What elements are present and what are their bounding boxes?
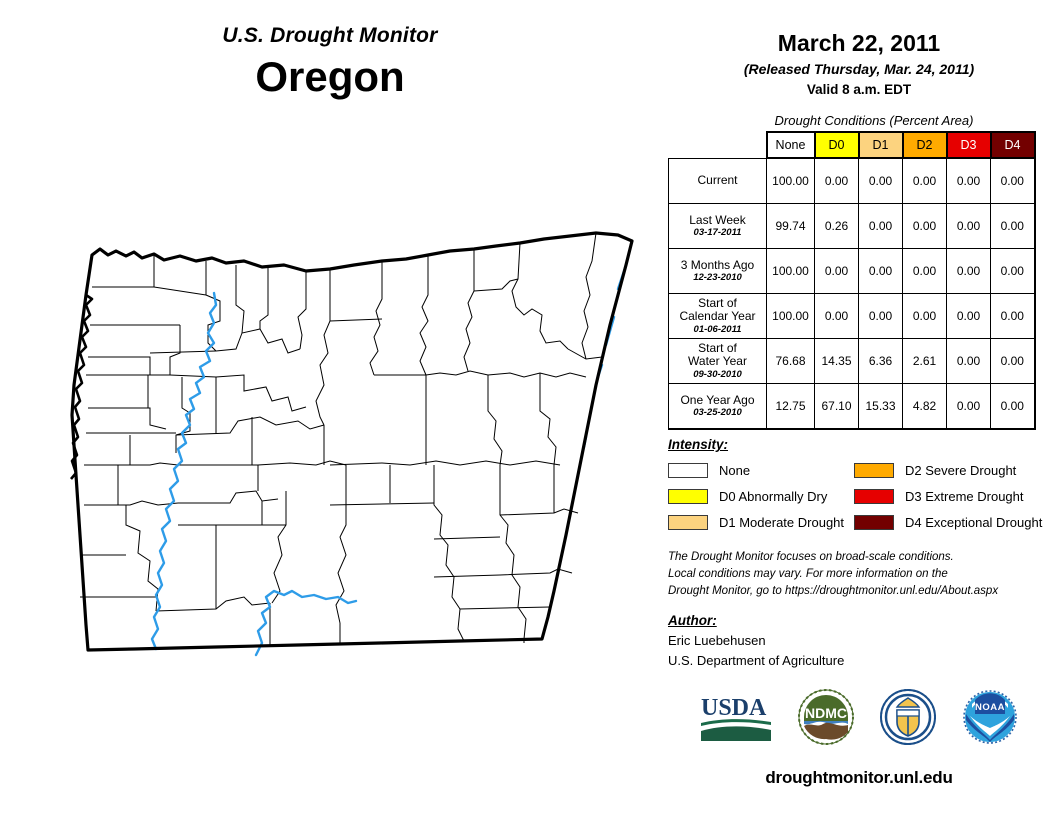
swatch-d2 bbox=[854, 463, 894, 478]
cell-d4: 0.00 bbox=[991, 339, 1035, 384]
cell-none: 100.00 bbox=[767, 249, 815, 294]
disclaimer-line-1: The Drought Monitor focuses on broad-sca… bbox=[668, 549, 1056, 566]
state-title: Oregon bbox=[0, 53, 660, 101]
date-block: March 22, 2011 (Released Thursday, Mar. … bbox=[662, 0, 1056, 97]
legend-label-d2: D2 Severe Drought bbox=[905, 463, 1016, 478]
table-row: Start ofWater Year09-30-201076.6814.356.… bbox=[669, 339, 1035, 384]
cell-d1: 0.00 bbox=[859, 158, 903, 204]
cell-d3: 0.00 bbox=[947, 339, 991, 384]
table-corner-blank bbox=[669, 132, 767, 158]
swatch-d0 bbox=[668, 489, 708, 504]
cell-d0: 0.00 bbox=[815, 249, 859, 294]
table-row: Current100.000.000.000.000.000.00 bbox=[669, 158, 1035, 204]
drought-conditions-table: None D0 D1 D2 D3 D4 Current100.000.000.0… bbox=[668, 131, 1036, 430]
cell-d1: 0.00 bbox=[859, 294, 903, 339]
column-header-d0: D0 bbox=[815, 132, 859, 158]
column-header-d4: D4 bbox=[991, 132, 1035, 158]
column-header-d3: D3 bbox=[947, 132, 991, 158]
author-title: Author: bbox=[668, 613, 1056, 628]
conditions-table-caption: Drought Conditions (Percent Area) bbox=[662, 113, 1056, 128]
legend-item-d4: D4 Exceptional Drought bbox=[854, 515, 1054, 530]
row-label: Current bbox=[669, 158, 767, 204]
cell-d3: 0.00 bbox=[947, 249, 991, 294]
site-url[interactable]: droughtmonitor.unl.edu bbox=[662, 768, 1056, 788]
legend-label-d4: D4 Exceptional Drought bbox=[905, 515, 1042, 530]
svg-text:NOAA: NOAA bbox=[975, 702, 1005, 713]
cell-none: 100.00 bbox=[767, 294, 815, 339]
disclaimer-line-3[interactable]: Drought Monitor, go to https://droughtmo… bbox=[668, 583, 1056, 600]
noaa-logo[interactable]: NOAA bbox=[961, 688, 1019, 751]
program-title: U.S. Drought Monitor bbox=[0, 24, 660, 47]
row-label: Start ofWater Year09-30-2010 bbox=[669, 339, 767, 384]
cell-d1: 0.00 bbox=[859, 249, 903, 294]
cell-d3: 0.00 bbox=[947, 294, 991, 339]
table-row: One Year Ago03-25-201012.7567.1015.334.8… bbox=[669, 384, 1035, 430]
cell-d2: 2.61 bbox=[903, 339, 947, 384]
release-date: March 22, 2011 bbox=[662, 30, 1056, 56]
svg-text:USDA: USDA bbox=[701, 695, 767, 721]
oregon-drought-map[interactable] bbox=[30, 225, 660, 695]
intensity-legend: Intensity: None D2 Severe Drought D0 Abn… bbox=[662, 437, 1056, 535]
cell-d0: 0.00 bbox=[815, 294, 859, 339]
legend-label-none: None bbox=[719, 463, 750, 478]
conditions-table-body: Current100.000.000.000.000.000.00Last We… bbox=[669, 158, 1035, 429]
cell-d0: 14.35 bbox=[815, 339, 859, 384]
row-label: Start ofCalendar Year01-06-2011 bbox=[669, 294, 767, 339]
intensity-legend-grid: None D2 Severe Drought D0 Abnormally Dry… bbox=[668, 457, 1056, 535]
cell-none: 12.75 bbox=[767, 384, 815, 430]
row-date: 12-23-2010 bbox=[669, 273, 766, 284]
row-date: 01-06-2011 bbox=[669, 325, 766, 336]
legend-label-d3: D3 Extreme Drought bbox=[905, 489, 1024, 504]
author-organization: U.S. Department of Agriculture bbox=[668, 651, 1056, 671]
column-header-none: None bbox=[767, 132, 815, 158]
cell-d3: 0.00 bbox=[947, 204, 991, 249]
right-panel: March 22, 2011 (Released Thursday, Mar. … bbox=[662, 0, 1056, 816]
table-row: Start ofCalendar Year01-06-2011100.000.0… bbox=[669, 294, 1035, 339]
legend-item-d0: D0 Abnormally Dry bbox=[668, 489, 854, 504]
cell-d2: 0.00 bbox=[903, 204, 947, 249]
cell-d4: 0.00 bbox=[991, 204, 1035, 249]
swatch-d3 bbox=[854, 489, 894, 504]
cell-d0: 0.00 bbox=[815, 158, 859, 204]
cell-none: 99.74 bbox=[767, 204, 815, 249]
author-block: Author: Eric Luebehusen U.S. Department … bbox=[662, 613, 1056, 670]
svg-text:NDMC: NDMC bbox=[805, 705, 847, 721]
row-label: One Year Ago03-25-2010 bbox=[669, 384, 767, 430]
intensity-title: Intensity: bbox=[668, 437, 1056, 452]
valid-note: Valid 8 a.m. EDT bbox=[662, 82, 1056, 97]
row-date: 03-25-2010 bbox=[669, 408, 766, 419]
row-label: 3 Months Ago12-23-2010 bbox=[669, 249, 767, 294]
author-name: Eric Luebehusen bbox=[668, 631, 1056, 651]
cell-d2: 4.82 bbox=[903, 384, 947, 430]
legend-item-d1: D1 Moderate Drought bbox=[668, 515, 854, 530]
title-block: U.S. Drought Monitor Oregon bbox=[0, 24, 660, 101]
cell-d1: 15.33 bbox=[859, 384, 903, 430]
legend-item-none: None bbox=[668, 463, 854, 478]
swatch-d1 bbox=[668, 515, 708, 530]
column-header-d2: D2 bbox=[903, 132, 947, 158]
conditions-table-holder: None D0 D1 D2 D3 D4 Current100.000.000.0… bbox=[662, 131, 1056, 431]
column-header-d1: D1 bbox=[859, 132, 903, 158]
cell-d2: 0.00 bbox=[903, 158, 947, 204]
cell-none: 76.68 bbox=[767, 339, 815, 384]
swatch-d4 bbox=[854, 515, 894, 530]
cell-d1: 0.00 bbox=[859, 204, 903, 249]
row-date: 03-17-2011 bbox=[669, 228, 766, 239]
cell-d4: 0.00 bbox=[991, 249, 1035, 294]
cell-d4: 0.00 bbox=[991, 158, 1035, 204]
table-header-row: None D0 D1 D2 D3 D4 bbox=[669, 132, 1035, 158]
logo-row: USDA NDMC bbox=[662, 688, 1056, 751]
cell-d3: 0.00 bbox=[947, 158, 991, 204]
disclaimer-line-2: Local conditions may vary. For more info… bbox=[668, 566, 1056, 583]
usdc-seal[interactable] bbox=[879, 688, 937, 751]
row-label: Last Week03-17-2011 bbox=[669, 204, 767, 249]
cell-d0: 0.26 bbox=[815, 204, 859, 249]
cell-d1: 6.36 bbox=[859, 339, 903, 384]
cell-d2: 0.00 bbox=[903, 249, 947, 294]
cell-d2: 0.00 bbox=[903, 294, 947, 339]
cell-none: 100.00 bbox=[767, 158, 815, 204]
legend-label-d1: D1 Moderate Drought bbox=[719, 515, 844, 530]
released-note: (Released Thursday, Mar. 24, 2011) bbox=[662, 61, 1056, 77]
row-date: 09-30-2010 bbox=[669, 370, 766, 381]
map-svg[interactable] bbox=[30, 225, 660, 695]
swatch-none bbox=[668, 463, 708, 478]
ndmc-logo[interactable]: NDMC bbox=[797, 688, 855, 751]
cell-d4: 0.00 bbox=[991, 294, 1035, 339]
cell-d4: 0.00 bbox=[991, 384, 1035, 430]
legend-label-d0: D0 Abnormally Dry bbox=[719, 489, 827, 504]
cell-d0: 67.10 bbox=[815, 384, 859, 430]
table-row: Last Week03-17-201199.740.260.000.000.00… bbox=[669, 204, 1035, 249]
table-row: 3 Months Ago12-23-2010100.000.000.000.00… bbox=[669, 249, 1035, 294]
legend-item-d2: D2 Severe Drought bbox=[854, 463, 1054, 478]
legend-item-d3: D3 Extreme Drought bbox=[854, 489, 1054, 504]
disclaimer: The Drought Monitor focuses on broad-sca… bbox=[662, 549, 1056, 599]
cell-d3: 0.00 bbox=[947, 384, 991, 430]
usda-logo[interactable]: USDA bbox=[699, 691, 773, 748]
